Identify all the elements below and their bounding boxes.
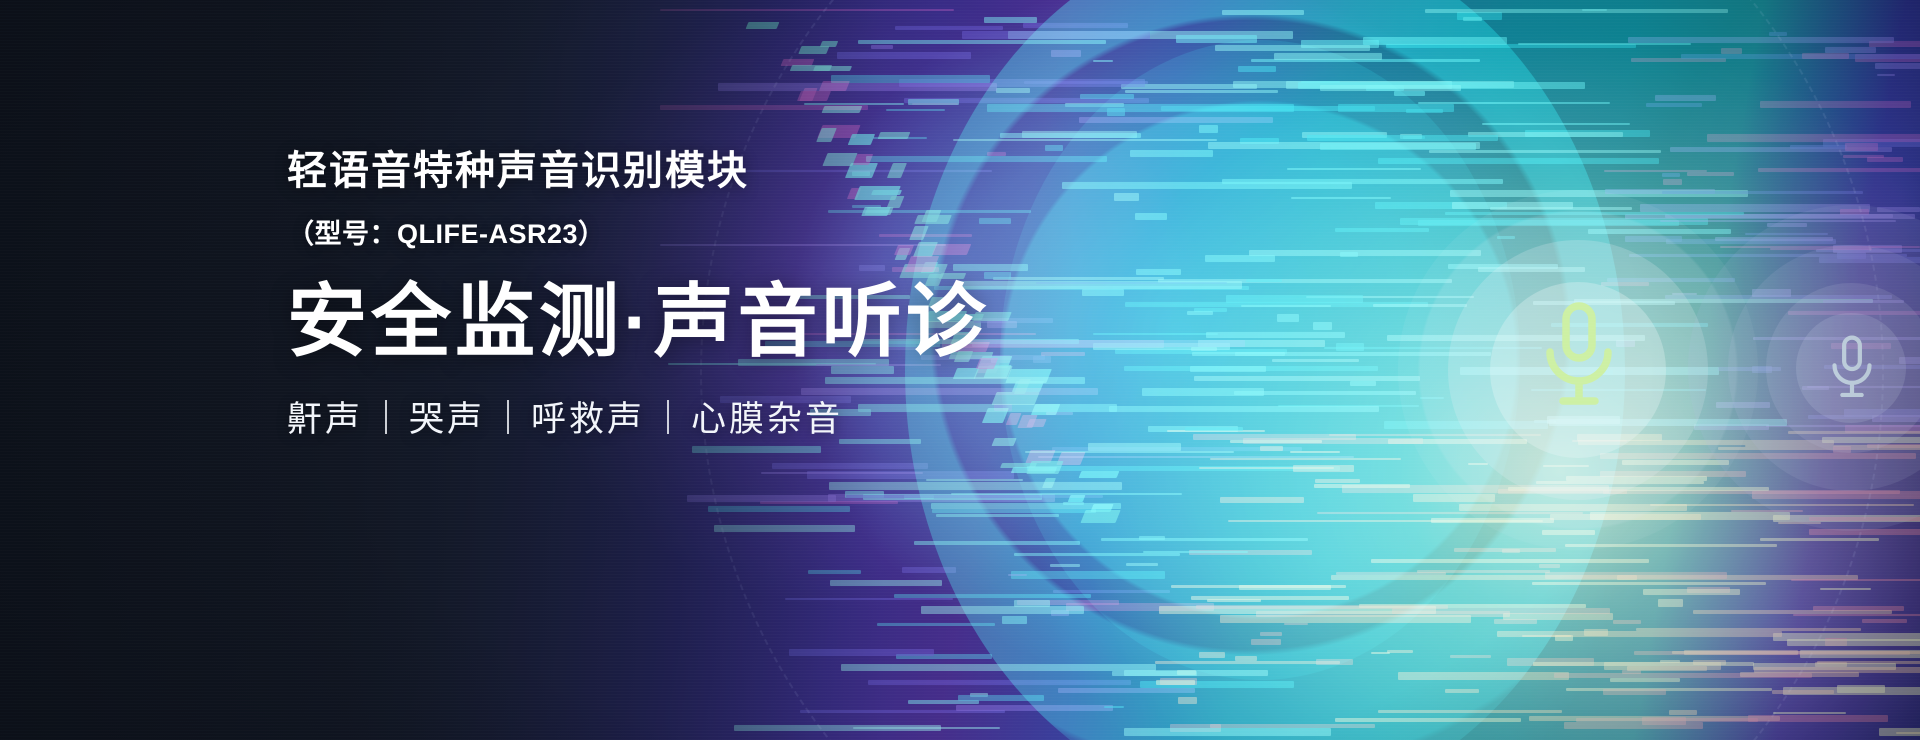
headline: 安全监测·声音听诊 — [287, 279, 1107, 365]
hero-banner: 轻语音特种声音识别模块 （型号：QLIFE-ASR23） 安全监测·声音听诊 鼾… — [0, 0, 1920, 740]
tag-separator — [667, 400, 669, 434]
tag-separator — [385, 400, 387, 434]
tag-separator — [507, 400, 509, 434]
sound-type-tag: 呼救声 — [531, 391, 645, 442]
product-title: 轻语音特种声音识别模块 — [287, 148, 1107, 194]
sound-type-tag: 心膜杂音 — [691, 391, 843, 442]
sound-type-tag: 鼾声 — [287, 391, 363, 442]
hero-text-block: 轻语音特种声音识别模块 （型号：QLIFE-ASR23） 安全监测·声音听诊 鼾… — [287, 148, 1107, 442]
microphone-icon[interactable] — [1536, 300, 1622, 416]
model-number-label: （型号：QLIFE-ASR23） — [287, 212, 1107, 251]
sound-type-tag-row: 鼾声哭声呼救声心膜杂音 — [287, 391, 1107, 442]
microphone-icon-secondary[interactable] — [1825, 334, 1879, 404]
sound-type-tag: 哭声 — [409, 391, 485, 442]
